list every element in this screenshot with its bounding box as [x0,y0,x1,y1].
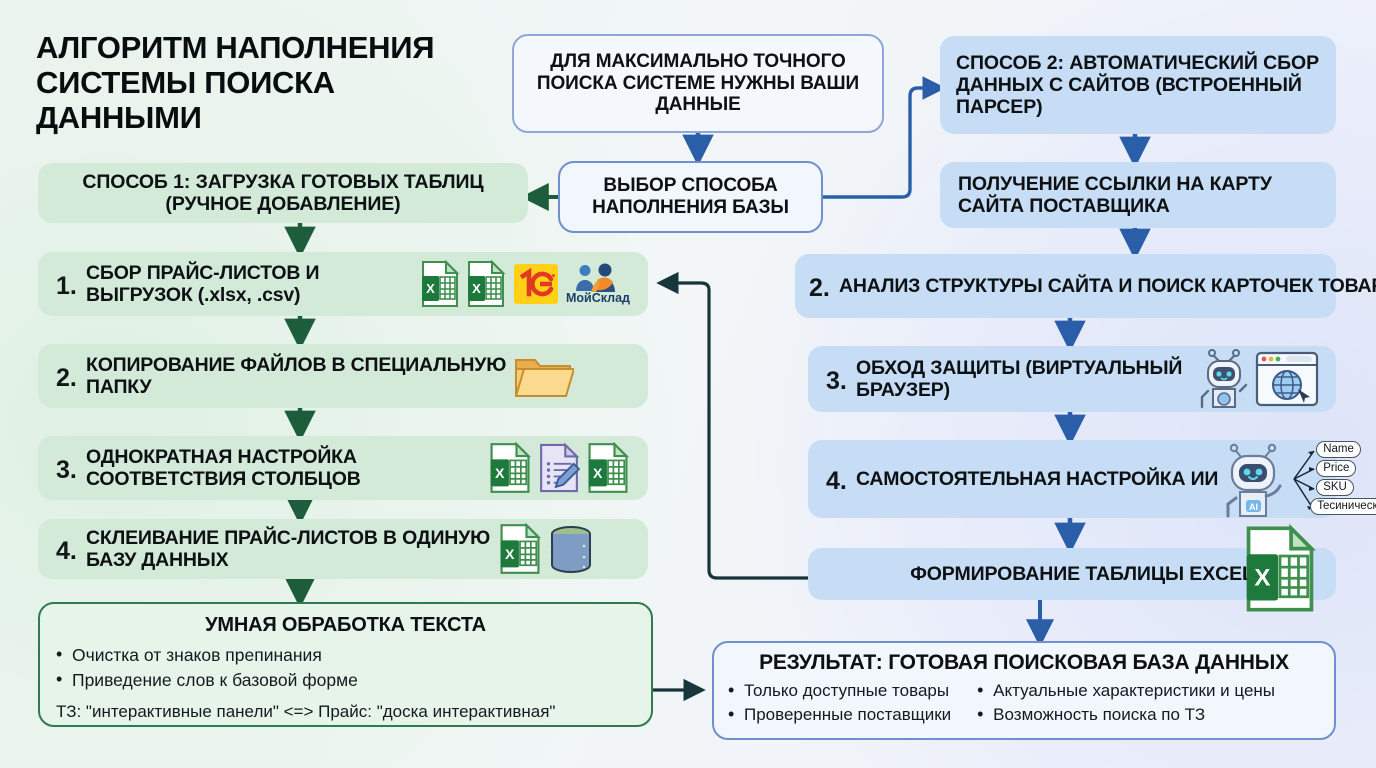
right-step-3-icons [1196,347,1322,411]
excel-file-icon: X [420,260,460,308]
choice-box: ВЫБОР СПОСОБА НАПОЛНЕНИЯ БАЗЫ [558,161,823,233]
1c-logo-icon [512,260,560,308]
ai-field-tags: Name Price SKU Tecинически Specs [1292,441,1376,517]
moysklad-logo-icon: МойСклад [566,263,630,305]
robot-icon [1196,347,1252,411]
excel-file-icon: X [586,442,630,494]
excel-file-icon: X [1243,524,1317,614]
left-step-3-number: 3. [56,452,86,485]
excel-file-icon: X [466,260,506,308]
smart-text-note: ТЗ: "интерактивные панели" <=> Прайс: "д… [56,702,635,722]
right-step-3-number: 3. [826,363,856,396]
right-step-4-text: САМОСТОЯТЕЛЬНАЯ НАСТРОЙКА ИИ [856,468,1218,490]
method1-header-text: СПОСОБ 1: ЗАГРУЗКА ГОТОВЫХ ТАБЛИЦ (РУЧНО… [50,171,516,215]
list-item: Приведение слов к базовой форме [56,668,635,693]
database-icon [548,523,594,575]
choice-text: ВЫБОР СПОСОБА НАПОЛНЕНИЯ БАЗЫ [560,175,821,218]
left-step-3-icons: X [488,442,634,494]
intro-box: ДЛЯ МАКСИМАЛЬНО ТОЧНОГО ПОИСКА СИСТЕМЕ Н… [512,34,884,133]
infographic-canvas: АЛГОРИТМ НАПОЛНЕНИЯ СИСТЕМЫ ПОИСКА ДАННЫ… [0,0,1376,768]
left-step-2-text: КОПИРОВАНИЕ ФАЙЛОВ В СПЕЦИАЛЬНУЮ ПАПКУ [86,354,512,399]
excel-file-icon: X [488,442,532,494]
left-step-2-number: 2. [56,360,86,393]
list-item: Возможность поиска по ТЗ [977,703,1275,727]
right-step-4-number: 4. [826,463,856,496]
note-pencil-icon [538,442,580,494]
left-step-4-icons: X [498,523,634,575]
right-step-2-text: АНАЛИЗ СТРУКТУРЫ САЙТА И ПОИСК КАРТОЧЕК … [839,275,1376,297]
tag-sku: SKU [1316,479,1354,496]
right-step-3: 3. ОБХОД ЗАЩИТЫ (ВИРТУАЛЬНЫЙ БРАУЗЕР) [808,346,1336,412]
right-step-4-icons: AI Name Pric [1218,440,1376,518]
browser-globe-icon [1254,349,1320,409]
method1-header-box: СПОСОБ 1: ЗАГРУЗКА ГОТОВЫХ ТАБЛИЦ (РУЧНО… [38,163,528,223]
list-item: Актуальные характеристики и цены [977,679,1275,703]
sitemap-link-box: ПОЛУЧЕНИЕ ССЫЛКИ НА КАРТУ САЙТА ПОСТАВЩИ… [940,162,1336,228]
sitemap-link-text: ПОЛУЧЕНИЕ ССЫЛКИ НА КАРТУ САЙТА ПОСТАВЩИ… [958,173,1318,217]
left-step-4-text: СКЛЕИВАНИЕ ПРАЙС-ЛИСТОВ В ОДИНУЮ БАЗУ ДА… [86,527,498,572]
excel-file-icon: X [498,523,542,575]
left-step-2: 2. КОПИРОВАНИЕ ФАЙЛОВ В СПЕЦИАЛЬНУЮ ПАПК… [38,344,648,408]
svg-text:X: X [1254,565,1270,592]
tag-name: Name [1316,441,1361,458]
list-item: Только доступные товары [728,679,951,703]
smart-text-bullets: Очистка от знаков препинания Приведение … [56,643,635,693]
svg-text:X: X [472,281,481,296]
right-step-3-text: ОБХОД ЗАЩИТЫ (ВИРТУАЛЬНЫЙ БРАУЗЕР) [856,357,1196,402]
result-title: РЕЗУЛЬТАТ: ГОТОВАЯ ПОИСКОВАЯ БАЗА ДАННЫХ [728,651,1320,675]
left-step-3-text: ОДНОКРАТНАЯ НАСТРОЙКА СООТВЕТСТВИЯ СТОЛБ… [86,446,488,491]
smart-text-title: УМНАЯ ОБРАБОТКА ТЕКСТА [56,614,635,637]
tag-price: Price [1316,460,1356,477]
method2-header-box: СПОСОБ 2: АВТОМАТИЧЕСКИЙ СБОР ДАННЫХ С С… [940,36,1336,134]
result-column-1: Только доступные товары Проверенные пост… [728,679,951,727]
intro-text: ДЛЯ МАКСИМАЛЬНО ТОЧНОГО ПОИСКА СИСТЕМЕ Н… [514,51,882,116]
right-step-4: 4. САМОСТОЯТЕЛЬНАЯ НАСТРОЙКА ИИ AI [808,440,1336,518]
svg-text:X: X [593,465,603,481]
left-step-1: 1. СБОР ПРАЙС-ЛИСТОВ И ВЫГРУЗОК (.xlsx, … [38,252,648,316]
svg-text:X: X [495,465,505,481]
svg-text:X: X [426,281,435,296]
left-step-2-icons [512,350,634,402]
right-step-2: 2. АНАЛИЗ СТРУКТУРЫ САЙТА И ПОИСК КАРТОЧ… [795,254,1336,318]
left-step-1-icons: X X [420,260,634,308]
result-columns: Только доступные товары Проверенные пост… [728,679,1320,727]
left-step-3: 3. ОДНОКРАТНАЯ НАСТРОЙКА СООТВЕТСТВИЯ СТ… [38,436,648,500]
page-title: АЛГОРИТМ НАПОЛНЕНИЯ СИСТЕМЫ ПОИСКА ДАННЫ… [36,30,506,135]
list-item: Очистка от знаков препинания [56,643,635,668]
robot-ai-icon: AI [1218,440,1290,518]
tag-technical-specs: Tecинически Specs [1310,498,1376,515]
smart-text-box: УМНАЯ ОБРАБОТКА ТЕКСТА Очистка от знаков… [38,602,653,727]
result-box: РЕЗУЛЬТАТ: ГОТОВАЯ ПОИСКОВАЯ БАЗА ДАННЫХ… [712,641,1336,740]
svg-text:AI: AI [1249,502,1258,512]
left-step-4-number: 4. [56,533,86,566]
left-step-1-number: 1. [56,268,86,301]
folder-icon [512,350,574,402]
svg-text:X: X [505,546,515,562]
list-item: Проверенные поставщики [728,703,951,727]
method2-header-text: СПОСОБ 2: АВТОМАТИЧЕСКИЙ СБОР ДАННЫХ С С… [956,52,1320,119]
result-column-2: Актуальные характеристики и цены Возможн… [977,679,1275,727]
left-step-1-text: СБОР ПРАЙС-ЛИСТОВ И ВЫГРУЗОК (.xlsx, .cs… [86,262,420,307]
right-step-2-number: 2. [809,270,839,303]
left-step-4: 4. СКЛЕИВАНИЕ ПРАЙС-ЛИСТОВ В ОДИНУЮ БАЗУ… [38,519,648,579]
